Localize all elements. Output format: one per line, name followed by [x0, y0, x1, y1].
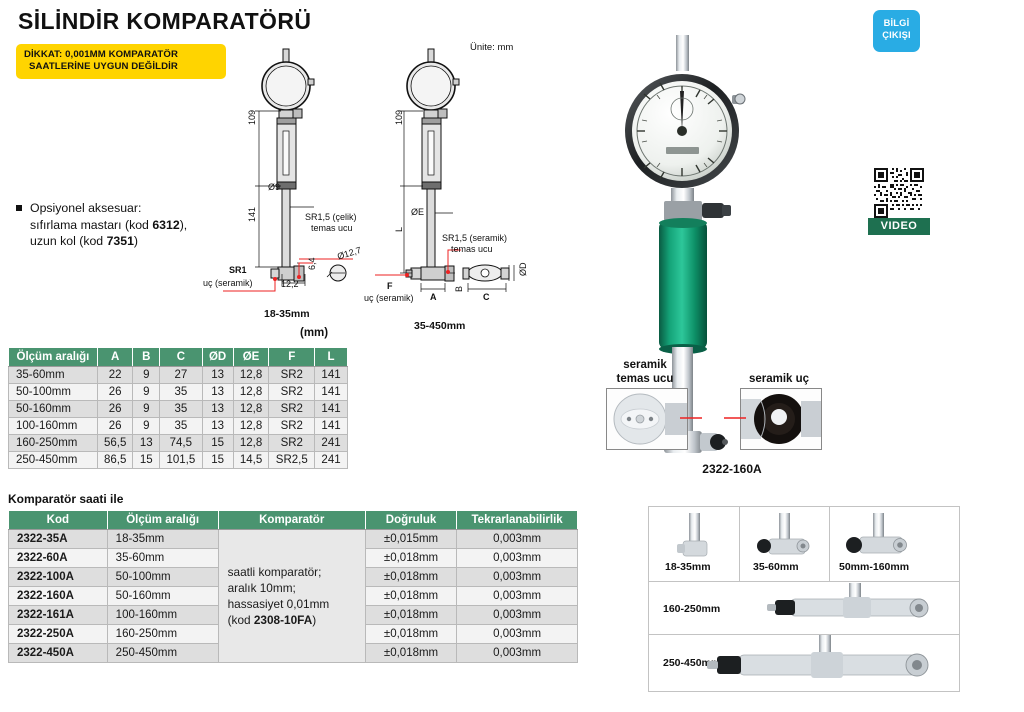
callout-right-box — [740, 388, 822, 450]
cell: SR2 — [269, 435, 315, 452]
cell: 141 — [315, 418, 348, 435]
col-header-tekrarlanabilirlik: Tekrarlanabilirlik — [457, 511, 578, 530]
table-row: 2322-35A18-35mmsaatli komparatör;aralık … — [9, 530, 578, 549]
label-F-sub: uç (seramik) — [364, 293, 414, 303]
callout-leader-lines — [680, 412, 746, 424]
video-label[interactable]: VIDEO — [868, 218, 930, 235]
col-header--l-m-aral-: Ölçüm aralığı — [9, 348, 98, 367]
table-row: 250-450mm86,515101,51514,5SR2,5241 — [9, 452, 348, 469]
drawing-left-caption: 18-35mm — [264, 308, 310, 320]
grid-divider-1 — [649, 581, 959, 582]
variant-image-50-160mm — [843, 513, 915, 561]
label-F: F — [387, 281, 393, 291]
dim-12-2-label: 12,2 — [281, 279, 299, 289]
dim-6-4-label: 6,4 — [307, 257, 317, 270]
product-code: 2322-161A — [9, 606, 108, 625]
repeatability: 0,003mm — [457, 568, 578, 587]
repeatability: 0,003mm — [457, 644, 578, 663]
table-codes-header-row: KodÖlçüm aralığıKomparatörDoğrulukTekrar… — [9, 511, 578, 530]
grid-divider-4 — [829, 507, 830, 581]
table-row: 100-160mm269351312,8SR2141 — [9, 418, 348, 435]
cell: 22 — [97, 367, 133, 384]
cell: 9 — [133, 401, 160, 418]
cell: 56,5 — [97, 435, 133, 452]
bilgi-cikisi-button[interactable]: BİLGİ ÇIKIŞI — [873, 10, 920, 52]
repeatability: 0,003mm — [457, 530, 578, 549]
label-C: C — [483, 292, 490, 302]
product-code: 2322-450A — [9, 644, 108, 663]
warning-badge: DİKKAT: 0,001MM KOMPARATÖR SAATLERİNE UY… — [16, 44, 226, 79]
dim-141-left: 141 — [247, 207, 257, 222]
accessory-code-7351: 7351 — [107, 234, 134, 248]
accuracy: ±0,015mm — [365, 530, 456, 549]
col-header-do-ruluk: Doğruluk — [365, 511, 456, 530]
dim-109-right: 109 — [394, 110, 404, 125]
accessory-code-6312: 6312 — [152, 218, 179, 232]
measuring-range: 50-100mm — [107, 568, 218, 587]
measuring-range: 100-160mm — [107, 606, 218, 625]
cell: 9 — [133, 418, 160, 435]
product-code: 2322-60A — [9, 549, 108, 568]
callout-left-box — [606, 388, 688, 450]
warning-line-2: SAATLERİNE UYGUN DEĞİLDİR — [24, 61, 220, 73]
cell: 86,5 — [97, 452, 133, 469]
table-row: 50-100mm269351312,8SR2141 — [9, 384, 348, 401]
measuring-range: 18-35mm — [107, 530, 218, 549]
variant-label-3: 50mm-160mm — [839, 561, 909, 573]
dim-109-left: 109 — [247, 110, 257, 125]
cell: 14,5 — [233, 452, 269, 469]
accessory-line-1: Opsiyonel aksesuar: — [30, 200, 231, 217]
unit-mm-label: (mm) — [300, 327, 328, 339]
cell: 26 — [97, 418, 133, 435]
table-row: 50-160mm269351312,8SR2141 — [9, 401, 348, 418]
cell: 35 — [160, 418, 203, 435]
cell: SR2,5 — [269, 452, 315, 469]
cell: 15 — [133, 452, 160, 469]
cell: 9 — [133, 384, 160, 401]
col-header-kod: Kod — [9, 511, 108, 530]
table-row: 160-250mm56,51374,51512,8SR2241 — [9, 435, 348, 452]
sr1-label: SR1 — [229, 265, 247, 275]
cell: 241 — [315, 452, 348, 469]
dia-9-label: Ø9 — [268, 182, 280, 192]
measuring-range: 35-60mm — [107, 549, 218, 568]
col-header-l: L — [315, 348, 348, 367]
label-A: A — [430, 292, 437, 302]
cell: 13 — [202, 384, 233, 401]
cell: 26 — [97, 384, 133, 401]
variant-image-35-60mm — [753, 513, 819, 561]
product-code: 2322-160A — [9, 587, 108, 606]
table-dimensions: Ölçüm aralığıABCØDØEFL 35-60mm229271312,… — [8, 347, 348, 469]
variant-image-18-35mm — [665, 513, 725, 561]
cell: 9 — [133, 367, 160, 384]
label-D: ØD — [518, 263, 528, 277]
sr15-ceramic-sub-label: temas ucu — [451, 244, 493, 254]
variant-label-2: 35-60mm — [753, 561, 799, 573]
sr15-steel-sub-label: temas ucu — [311, 223, 353, 233]
accuracy: ±0,018mm — [365, 644, 456, 663]
cell: 13 — [202, 418, 233, 435]
dia-E-label: ØE — [411, 207, 424, 217]
col-header-c: C — [160, 348, 203, 367]
accuracy: ±0,018mm — [365, 606, 456, 625]
measuring-range: 250-450mm — [107, 644, 218, 663]
cell: 141 — [315, 401, 348, 418]
cell: 12,8 — [233, 384, 269, 401]
cell: 13 — [202, 401, 233, 418]
label-B: B — [454, 286, 464, 292]
repeatability: 0,003mm — [457, 587, 578, 606]
accuracy: ±0,018mm — [365, 587, 456, 606]
variant-image-160-250mm — [761, 583, 951, 633]
cell: 26 — [97, 401, 133, 418]
accuracy: ±0,018mm — [365, 549, 456, 568]
variant-label-1: 18-35mm — [665, 561, 711, 573]
table-dimensions-header-row: Ölçüm aralığıABCØDØEFL — [9, 348, 348, 367]
cell: 100-160mm — [9, 418, 98, 435]
product-code: 2322-100A — [9, 568, 108, 587]
info-button-line-2: ÇIKIŞI — [873, 29, 920, 41]
sr15-steel-label: SR1,5 (çelik) — [305, 212, 357, 222]
cell: 13 — [133, 435, 160, 452]
variant-label-4: 160-250mm — [663, 603, 720, 615]
cell: 160-250mm — [9, 435, 98, 452]
dim-L-label: L — [394, 227, 404, 232]
repeatability: 0,003mm — [457, 625, 578, 644]
measuring-range: 50-160mm — [107, 587, 218, 606]
repeatability: 0,003mm — [457, 549, 578, 568]
cell: 241 — [315, 435, 348, 452]
cell: 35-60mm — [9, 367, 98, 384]
cell: 50-160mm — [9, 401, 98, 418]
page-title: SİLİNDİR KOMPARATÖRÜ — [18, 8, 311, 35]
cell: 35 — [160, 384, 203, 401]
col-header--e: ØE — [233, 348, 269, 367]
cell: 141 — [315, 367, 348, 384]
qr-video-block[interactable]: VIDEO — [868, 168, 930, 235]
cell: 12,8 — [233, 401, 269, 418]
col-header-f: F — [269, 348, 315, 367]
grid-divider-3 — [739, 507, 740, 581]
callout-left-title: seramiktemas ucu — [600, 358, 690, 386]
sr1-sub-label: uç (seramik) — [203, 278, 253, 288]
col-header-a: A — [97, 348, 133, 367]
cell: 13 — [202, 367, 233, 384]
col-header--d: ØD — [202, 348, 233, 367]
cell: 101,5 — [160, 452, 203, 469]
accuracy: ±0,018mm — [365, 625, 456, 644]
cell: SR2 — [269, 384, 315, 401]
cell: 50-100mm — [9, 384, 98, 401]
bullet-icon — [16, 205, 22, 211]
cell: 15 — [202, 435, 233, 452]
komparator-description: saatli komparatör;aralık 10mm;hassasiyet… — [218, 530, 365, 663]
accessory-line-2: sıfırlama mastarı (kod 6312), — [30, 217, 231, 234]
product-code: 2322-250A — [9, 625, 108, 644]
cell: 141 — [315, 384, 348, 401]
product-photo-caption: 2322-160A — [672, 462, 792, 476]
info-button-line-1: BİLGİ — [873, 17, 920, 29]
cell: 12,8 — [233, 418, 269, 435]
drawing-right-caption: 35-450mm — [414, 320, 465, 332]
variant-image-250-450mm — [691, 635, 951, 691]
cell: SR2 — [269, 367, 315, 384]
table-codes-title: Komparatör saati ile — [8, 492, 123, 506]
repeatability: 0,003mm — [457, 606, 578, 625]
table-codes: KodÖlçüm aralığıKomparatörDoğrulukTekrar… — [8, 510, 578, 663]
product-code: 2322-35A — [9, 530, 108, 549]
cell: 15 — [202, 452, 233, 469]
accessory-line-3: uzun kol (kod 7351) — [30, 233, 231, 250]
accuracy: ±0,018mm — [365, 568, 456, 587]
cell: 74,5 — [160, 435, 203, 452]
col-header-b: B — [133, 348, 160, 367]
accessory-note: Opsiyonel aksesuar: sıfırlama mastarı (k… — [16, 200, 231, 250]
cell: 35 — [160, 401, 203, 418]
sr15-ceramic-label: SR1,5 (seramik) — [442, 233, 507, 243]
cell: 27 — [160, 367, 203, 384]
callout-right-title: seramik uç — [734, 372, 824, 386]
col-header--l-m-aral-: Ölçüm aralığı — [107, 511, 218, 530]
cell: 250-450mm — [9, 452, 98, 469]
qr-code-icon[interactable] — [868, 168, 930, 218]
cell: SR2 — [269, 418, 315, 435]
cell: SR2 — [269, 401, 315, 418]
variant-grid: 18-35mm 35-60mm 50mm-160mm 160-250mm 250… — [648, 506, 960, 692]
col-header-komparat-r: Komparatör — [218, 511, 365, 530]
table-row: 35-60mm229271312,8SR2141 — [9, 367, 348, 384]
cell: 12,8 — [233, 367, 269, 384]
warning-line-1: DİKKAT: 0,001MM KOMPARATÖR — [24, 49, 220, 61]
measuring-range: 160-250mm — [107, 625, 218, 644]
cell: 12,8 — [233, 435, 269, 452]
